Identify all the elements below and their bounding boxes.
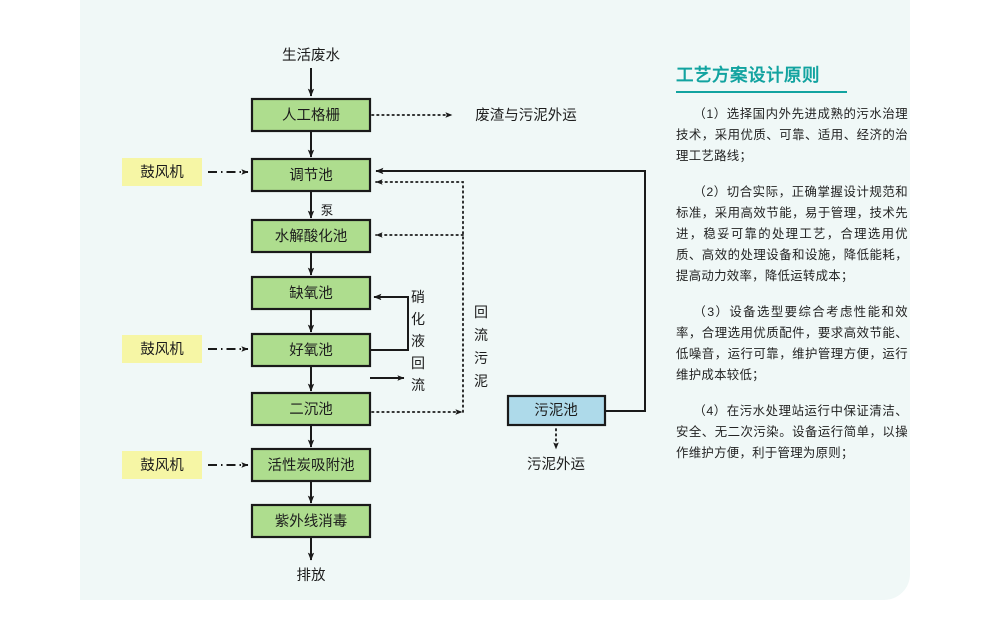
node-sludge-pool-label: 污泥池 [534, 402, 578, 419]
waste-out-label: 废渣与污泥外运 [475, 107, 577, 124]
svg-text:流: 流 [474, 327, 488, 343]
node-uv-label: 紫外线消毒 [275, 513, 348, 530]
node-anoxic-label: 缺氧池 [289, 285, 333, 302]
svg-text:硝: 硝 [411, 289, 425, 305]
inlet-label: 生活废水 [282, 47, 340, 64]
node-blower-carbon[interactable]: 鼓风机 [122, 451, 202, 479]
node-sludge-pool[interactable]: 污泥池 [508, 396, 605, 425]
svg-text:污: 污 [474, 350, 488, 366]
principle-paragraph-4: （4）在污水处理站运行中保证清洁、安全、无二次污染。设备运行简单，以操作维护方便… [676, 401, 908, 464]
svg-text:回: 回 [411, 355, 425, 371]
return-nitrate-label: 硝 化 液 回 流 [411, 289, 425, 393]
panel-title: 工艺方案设计原则 [676, 62, 908, 91]
node-sediment-label: 二沉池 [289, 401, 333, 418]
node-grille-label: 人工格栅 [282, 107, 340, 124]
node-uv[interactable]: 紫外线消毒 [252, 505, 370, 537]
blower-aerobic-label: 鼓风机 [140, 341, 184, 358]
node-carbon[interactable]: 活性炭吸附池 [252, 449, 370, 481]
node-grille[interactable]: 人工格栅 [252, 99, 370, 131]
node-blower-aerobic[interactable]: 鼓风机 [122, 335, 202, 363]
sludge-out-label: 污泥外运 [527, 456, 585, 473]
pump-label: 泵 [321, 203, 334, 217]
node-anoxic[interactable]: 缺氧池 [252, 277, 370, 309]
title-underline [676, 91, 847, 93]
blower-carbon-label: 鼓风机 [140, 457, 184, 474]
node-adjust-label: 调节池 [289, 167, 333, 184]
blower-adjust-label: 鼓风机 [140, 164, 184, 181]
node-hydro[interactable]: 水解酸化池 [252, 220, 370, 252]
node-sediment[interactable]: 二沉池 [252, 393, 370, 425]
process-flow-diagram: 生活废水 人工格栅 调节池 泵 水解酸化池 缺氧池 好氧池 [0, 0, 680, 625]
svg-text:液: 液 [411, 333, 425, 349]
node-blower-adjust[interactable]: 鼓风机 [122, 158, 202, 186]
svg-text:流: 流 [411, 377, 425, 393]
svg-text:泥: 泥 [474, 373, 488, 389]
node-hydro-label: 水解酸化池 [275, 228, 348, 245]
node-carbon-label: 活性炭吸附池 [268, 457, 355, 474]
svg-text:化: 化 [411, 311, 425, 327]
screenshot-root: 生活废水 人工格栅 调节池 泵 水解酸化池 缺氧池 好氧池 [0, 0, 1000, 625]
design-principles-panel: 工艺方案设计原则 （1）选择国内外先进成熟的污水治理技术，采用优质、可靠、适用、… [676, 62, 908, 479]
node-aerobic-label: 好氧池 [289, 342, 333, 359]
node-adjust[interactable]: 调节池 [252, 159, 370, 191]
principle-paragraph-3: （3）设备选型要综合考虑性能和效率，合理选用优质配件，要求高效节能、低噪音，运行… [676, 302, 908, 386]
loop-nitrate-return [370, 297, 408, 350]
outlet-label: 排放 [297, 567, 326, 584]
principle-paragraph-2: （2）切合实际，正确掌握设计规范和标准，采用高效节能，易于管理，技术先进，稳妥可… [676, 182, 908, 287]
svg-text:回: 回 [474, 304, 488, 320]
principle-paragraph-1: （1）选择国内外先进成熟的污水治理技术，采用优质、可靠、适用、经济的治理工艺路线… [676, 104, 908, 167]
return-sludge-label: 回 流 污 泥 [474, 304, 488, 389]
node-aerobic[interactable]: 好氧池 [252, 334, 370, 366]
